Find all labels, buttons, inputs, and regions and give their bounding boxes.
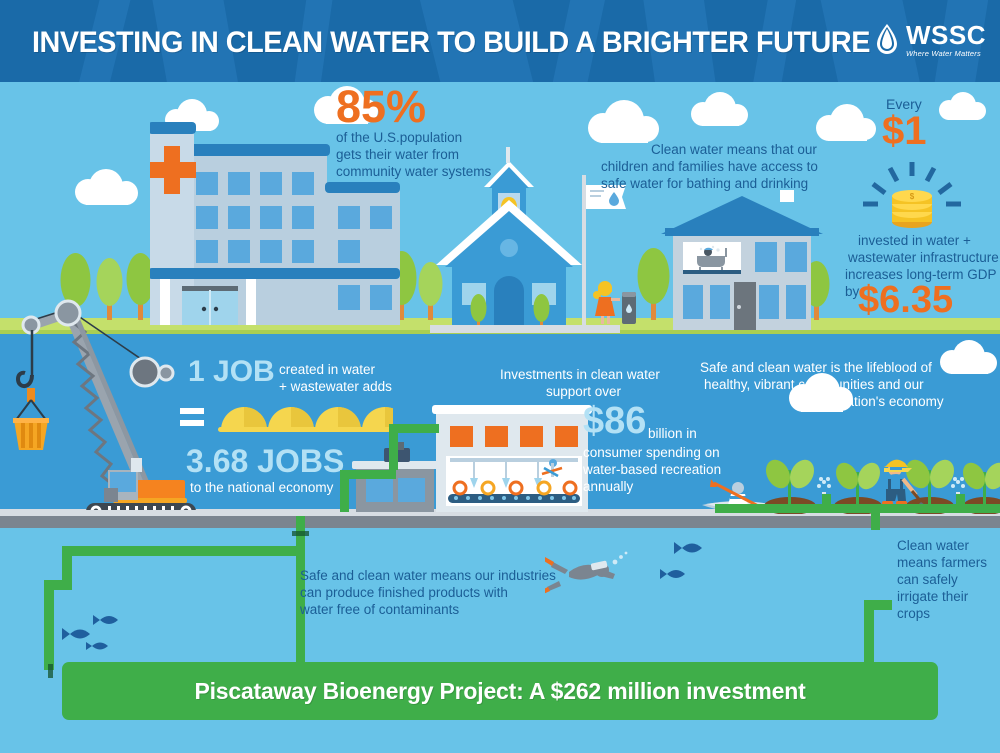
farm-pipe-riser-right [956,494,965,508]
construction-crane [0,280,200,510]
callout-farmers-line4: irrigate their [897,588,968,605]
coin-stack-icon: $ [892,190,932,228]
water-treatment-plant [340,400,600,520]
hard-hat-icon [265,407,317,432]
callout-farmers-line3: can safely [897,571,958,588]
callout-lifeblood-line1: Safe and clean water is the lifeblood of [700,359,932,376]
stat-recreation-value: $86 [583,403,646,439]
girl-icon [593,281,620,324]
hard-hat-icon [218,407,270,432]
callout-industry-line2: can produce finished products with [300,584,508,601]
industry-pipe-v2 [62,546,72,582]
fish-icon [93,615,118,625]
callout-industry-line1: Safe and clean water means our industrie… [300,567,556,584]
scuba-diver-icon [545,552,627,595]
stat-population-line2: gets their water from [336,146,459,163]
callout-family-line2: children and families have access to [601,158,818,175]
logo-text-block: WSSC Where Water Matters [906,22,986,58]
farm-return-pipe-v [864,600,874,668]
farm-pipe-riser-left [822,494,831,508]
industry-pipe-h1 [62,546,305,556]
house-building [655,190,830,335]
stat-recreation-line1: Investments in clean water [500,366,660,383]
callout-lifeblood-line2: healthy, vibrant communities and our [704,376,924,393]
plant-pipe-drop [340,470,349,512]
callout-family-line1: Clean water means that our [651,141,817,158]
header-bar: INVESTING IN CLEAN WATER TO BUILD A BRIG… [0,0,1000,82]
water-drop-icon [874,23,900,57]
stat-jobs-result: 3.68 JOBS [186,446,344,476]
stat-dollar-value: $1 [882,112,927,150]
drinking-fountain-icon [622,292,636,324]
equals-sign [180,405,206,429]
callout-farmers-line5: crops [897,605,930,622]
stat-jobs-headline: 1 JOB [188,358,275,387]
callout-lifeblood-line3: nation's economy [839,393,944,410]
farm-pipe-drop [871,504,880,530]
stat-population-line1: of the U.S.population [336,129,462,146]
stat-dollar-line2: wastewater infrastructure [848,249,999,266]
pipe-clamp [48,664,53,678]
scuba-diver [545,548,635,598]
callout-farmers-line1: Clean water [897,537,969,554]
fish-single [655,558,705,598]
stat-recreation-line2: support over [546,383,621,400]
callout-industry-line3: water free of contaminants [300,601,459,618]
callout-family-line3: safe water for bathing and drinking [601,175,808,192]
crane-bucket-icon [13,418,49,450]
plant-pipe-horizontal [389,424,439,433]
fish-icon [660,569,685,579]
stat-jobs-line1: created in water [279,361,375,378]
logo-tagline: Where Water Matters [906,50,986,58]
fish-group-left [60,612,180,662]
wssc-logo[interactable]: WSSC Where Water Matters [874,22,986,58]
girl-drinking-fountain [592,278,638,326]
fish-icon [674,542,702,554]
industry-pipe-v3 [44,580,54,670]
plant-icon [761,456,819,504]
pipe-clamp [292,531,309,536]
callout-farmers-line2: means farmers [897,554,987,571]
cloud-icon [940,340,997,374]
bottom-banner-text: Piscataway Bioenergy Project: A $262 mil… [194,678,805,705]
page-title: INVESTING IN CLEAN WATER TO BUILD A BRIG… [32,26,870,60]
stat-recreation-line6: annually [583,478,633,495]
fish-icon [86,642,108,650]
bottom-banner[interactable]: Piscataway Bioenergy Project: A $262 mil… [62,662,938,720]
stat-dollar-result: $6.35 [858,282,953,318]
fish-icon [62,628,90,640]
stat-dollar-line1: invested in water + [858,232,971,249]
svg-text:$: $ [910,192,915,201]
infographic-poster: INVESTING IN CLEAN WATER TO BUILD A BRIG… [0,0,1000,753]
farm-return-pipe-h [864,600,892,610]
stat-population-value: 85% [336,86,426,129]
stat-population-line3: community water systems [336,163,491,180]
stat-recreation-line4: consumer spending on [583,444,720,461]
stat-jobs-result-caption: to the national economy [190,479,333,496]
coin-stack-with-rays: $ [855,160,970,230]
logo-wordmark: WSSC [906,22,986,48]
stat-jobs-line2: + wastewater adds [279,378,392,395]
